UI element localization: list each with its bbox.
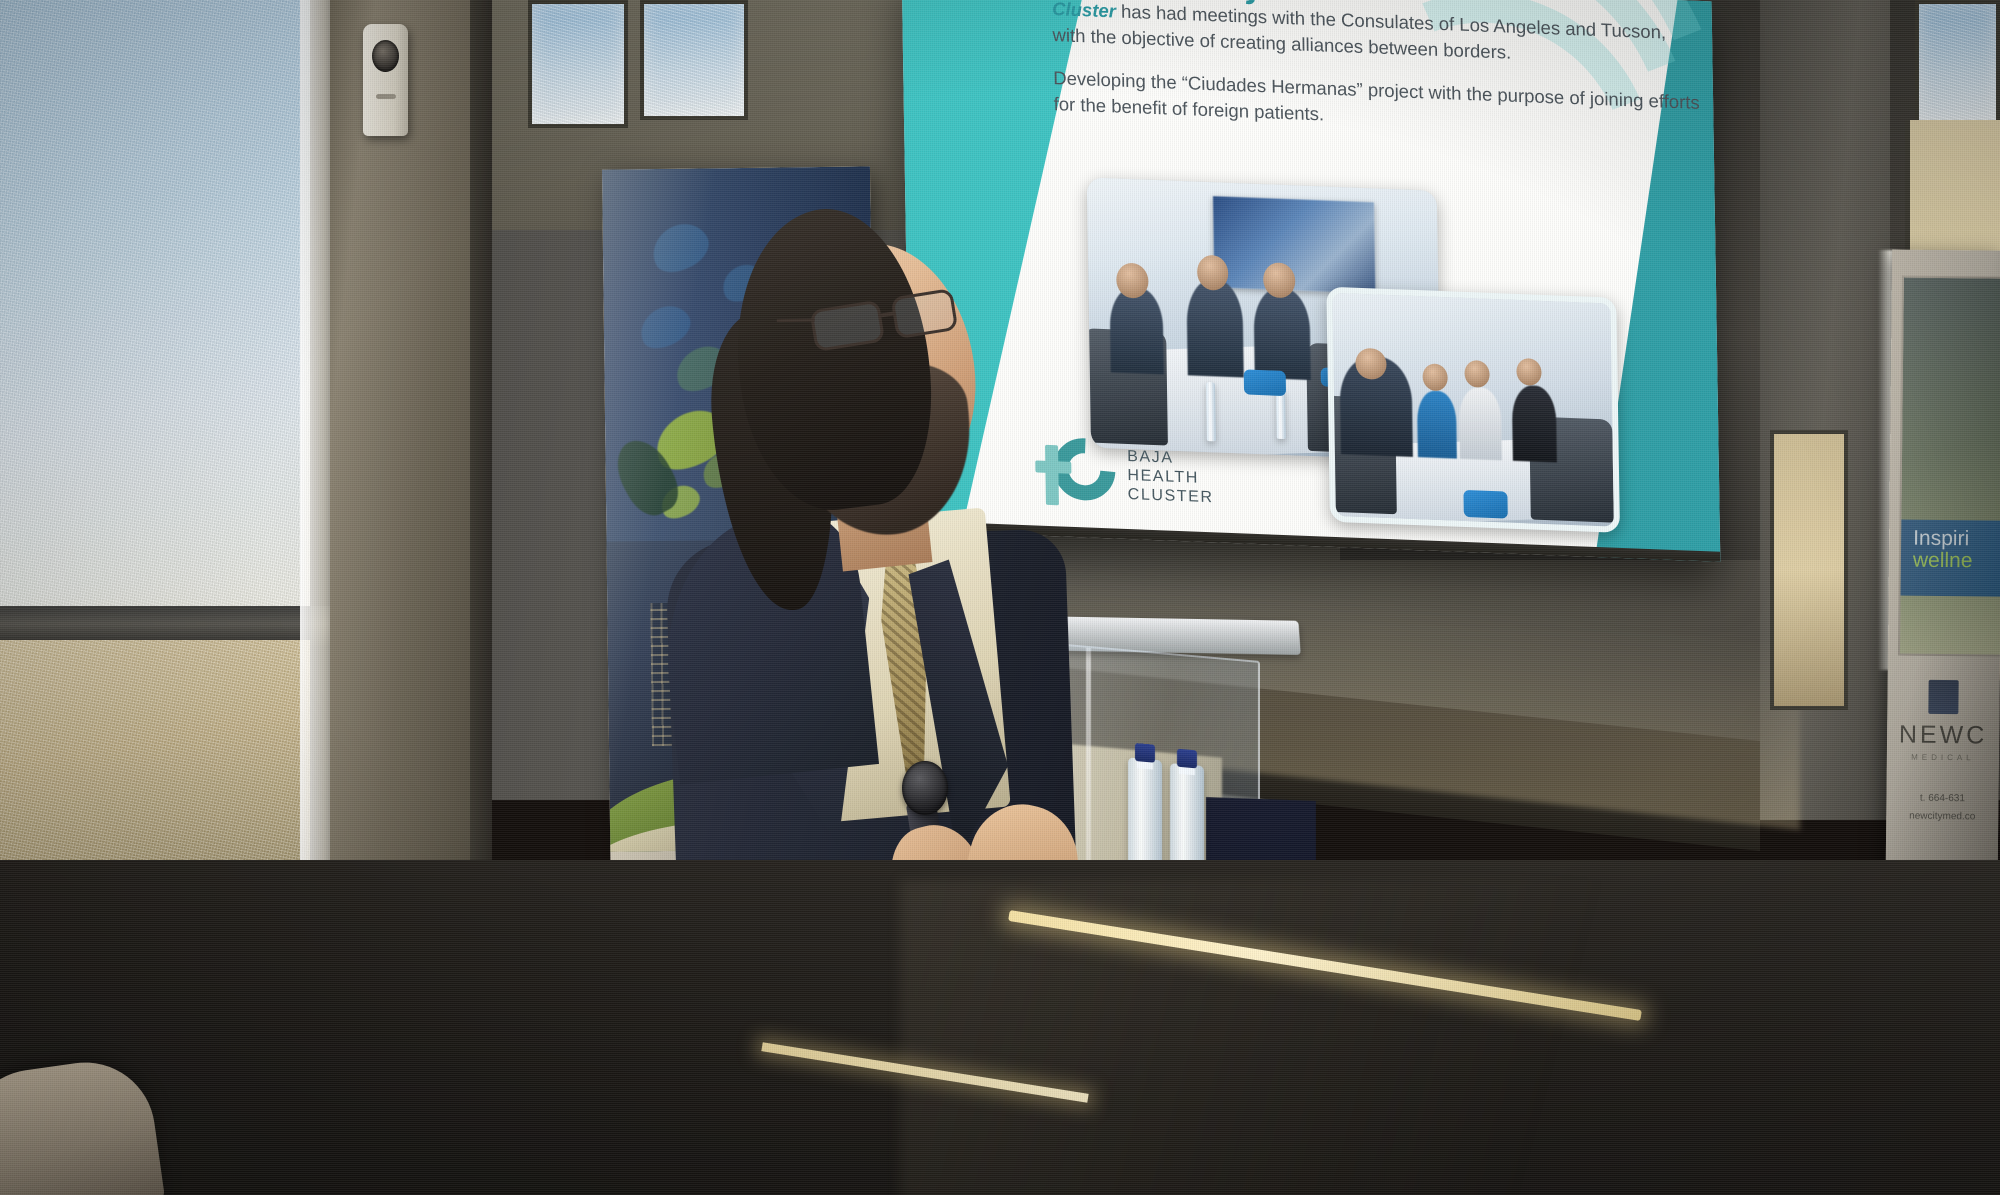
clerestory-window-mid	[640, 0, 748, 120]
left-window-glass-upper	[0, 0, 310, 612]
bottle-cap-icon	[1177, 749, 1197, 769]
working-session-photo-content	[1332, 293, 1613, 527]
banner-right-website: newcitymed.co	[1886, 807, 1998, 826]
banner-right-brand-sub: MEDICAL	[1887, 752, 1999, 762]
bhc-logo-text: BAJA HEALTH CLUSTER	[1127, 448, 1214, 508]
banner-right-logo: NEWC MEDICAL	[1887, 679, 2000, 762]
clerestory-window-left	[528, 0, 628, 128]
left-window-frame	[0, 0, 350, 900]
slide-paragraph-2: Developing the “Ciudades Hermanas” proje…	[1053, 65, 1704, 143]
occupancy-sensor-icon	[363, 24, 408, 136]
banner-right-phone: t. 664-631	[1886, 789, 1998, 808]
microphone-head-icon	[902, 761, 948, 815]
clerestory-window-right	[1915, 0, 2000, 128]
sensor-slot	[376, 94, 396, 99]
banner-right-brand: NEWC	[1887, 720, 1999, 750]
right-small-window	[1770, 430, 1848, 710]
wall-pillar	[330, 0, 485, 960]
bottle-cap-icon	[1135, 743, 1155, 763]
banner-right-band-line2: wellne	[1913, 550, 2000, 573]
slide-body-text: Cluster has had meetings with the Consul…	[1052, 0, 1704, 158]
wall-pillar-edge	[470, 0, 492, 960]
banner-right-contact: t. 664-631 newcitymed.co	[1886, 789, 1998, 826]
banner-right-band-line1: Inspiri	[1913, 528, 2000, 551]
slide-paragraph-1-lead: Cluster	[1052, 0, 1116, 21]
newcity-emblem-icon-right	[1928, 680, 1958, 714]
working-session-photo	[1326, 287, 1620, 533]
banner-right-band: Inspiri wellne	[1901, 520, 2000, 597]
banner-right-artwork	[1898, 276, 2000, 657]
bhc-line-3: CLUSTER	[1128, 486, 1214, 508]
sensor-lens-icon	[372, 40, 399, 72]
conference-room-photo: Baja Cluster has had meetings with the C…	[0, 0, 2000, 1195]
